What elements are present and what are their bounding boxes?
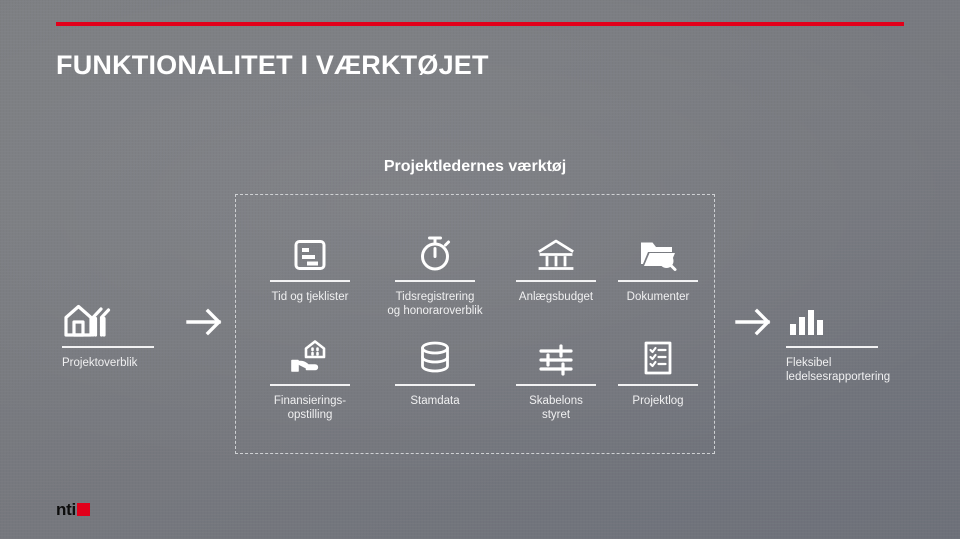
tile-underline (618, 280, 698, 282)
checklist-panel-icon (256, 226, 364, 272)
hand-house-icon (256, 330, 364, 376)
stopwatch-icon (381, 226, 489, 272)
tile-underline (516, 280, 596, 282)
tile-label: Projektlog (604, 394, 712, 408)
tile-tid-og-tjeklister[interactable]: Tid og tjeklister (256, 226, 364, 304)
page-title: FUNKTIONALITET I VÆRKTØJET (56, 50, 489, 81)
tile-underline (516, 384, 596, 386)
slide-canvas: FUNKTIONALITET I VÆRKTØJET Projektledern… (0, 0, 960, 539)
database-icon (381, 330, 489, 376)
folder-search-icon (604, 226, 712, 272)
tile-projektlog[interactable]: Projektlog (604, 330, 712, 408)
clipboard-check-icon (604, 330, 712, 376)
tile-underline (395, 280, 475, 282)
tile-underline (270, 280, 350, 282)
tile-label: Tid og tjeklister (256, 290, 364, 304)
tile-fleksibel-ledelsesrapportering[interactable]: Fleksibel ledelsesrapportering (786, 292, 916, 384)
tile-tidsregistrering[interactable]: Tidsregistrering og honoraroverblik (381, 226, 489, 318)
tile-label: Finansierings- opstilling (256, 394, 364, 422)
logo-wordmark: nti (56, 501, 76, 518)
logo-square-icon (77, 503, 90, 516)
tile-underline (62, 346, 154, 348)
tile-label: Stamdata (381, 394, 489, 408)
tile-label: Anlægsbudget (502, 290, 610, 304)
section-heading: Projektledernes værktøj (235, 158, 715, 176)
tile-underline (618, 384, 698, 386)
tile-underline (786, 346, 878, 348)
arrow-right-icon-right (734, 305, 774, 339)
tile-label: Fleksibel ledelsesrapportering (786, 356, 916, 384)
tile-label: Dokumenter (604, 290, 712, 304)
tile-label: Projektoverblik (62, 356, 192, 370)
nti-logo: nti (56, 500, 90, 518)
tile-stamdata[interactable]: Stamdata (381, 330, 489, 408)
tile-anlaegsbudget[interactable]: Anlægsbudget (502, 226, 610, 304)
tile-dokumenter[interactable]: Dokumenter (604, 226, 712, 304)
tile-underline (270, 384, 350, 386)
bank-building-icon (502, 226, 610, 272)
buildings-house-icon (62, 292, 192, 338)
arrow-right-icon-left (185, 305, 225, 339)
tile-label: Skabelons styret (502, 394, 610, 422)
tile-skabelons-styret[interactable]: Skabelons styret (502, 330, 610, 422)
accent-rule (56, 22, 904, 26)
sliders-icon (502, 330, 610, 376)
tile-underline (395, 384, 475, 386)
tile-projektoverblik[interactable]: Projektoverblik (62, 292, 192, 370)
tile-finansieringsopstilling[interactable]: Finansierings- opstilling (256, 330, 364, 422)
bar-chart-icon (786, 292, 916, 338)
tile-label: Tidsregistrering og honoraroverblik (381, 290, 489, 318)
